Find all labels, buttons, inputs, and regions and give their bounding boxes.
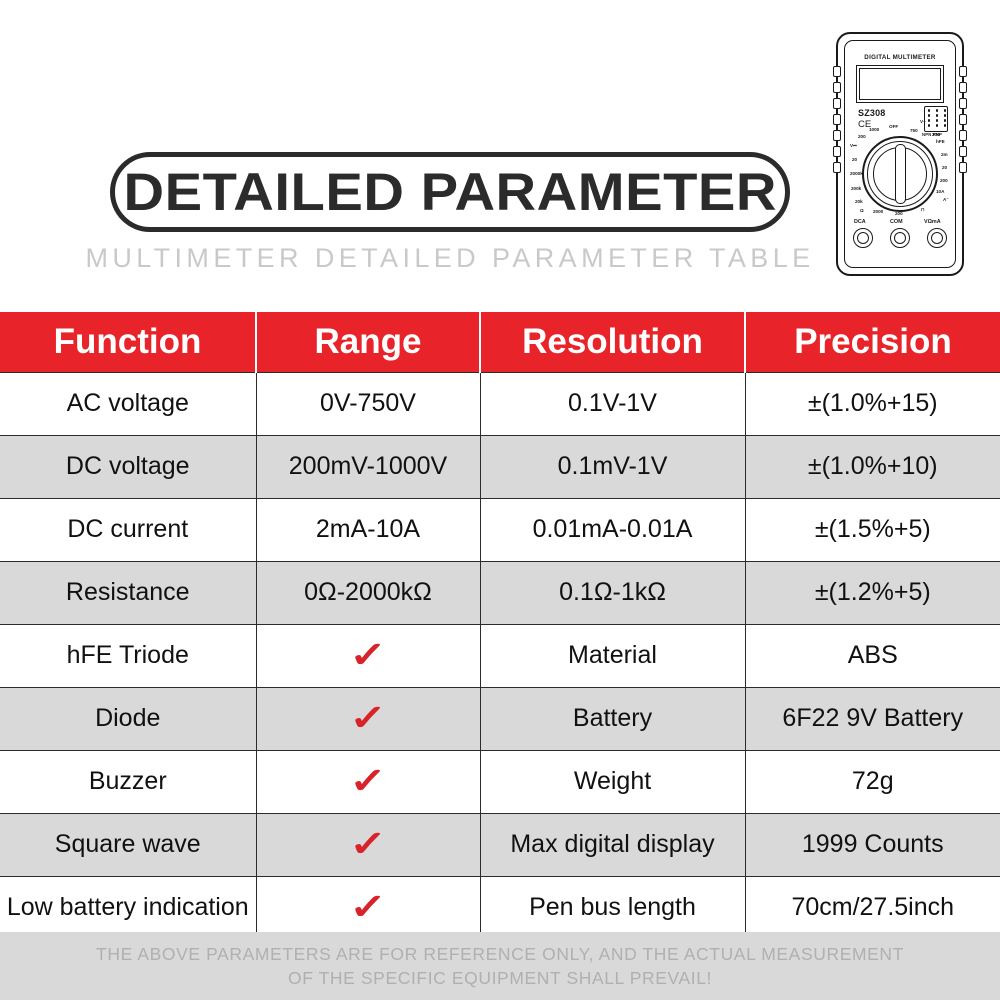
- side-ridge-icon: [833, 146, 841, 157]
- jack-label-vohm-ma: VΩmA: [924, 219, 941, 225]
- socket-pin-icon: [936, 124, 939, 127]
- cell-resolution: 0.1V-1V: [480, 372, 745, 435]
- cell-precision: ABS: [745, 624, 1000, 687]
- cell-range: ✓: [256, 750, 480, 813]
- dial-label-2m: 2m: [941, 153, 948, 158]
- cell-resolution: Weight: [480, 750, 745, 813]
- socket-pin-icon: [944, 119, 947, 122]
- cell-function: Diode: [0, 687, 256, 750]
- cell-range: ✓: [256, 624, 480, 687]
- side-ridge-icon: [833, 66, 841, 77]
- parameter-table: Function Range Resolution Precision AC v…: [0, 312, 1000, 940]
- dial-label-1000: 1000: [869, 128, 879, 133]
- jack-com[interactable]: [890, 228, 910, 248]
- check-icon: ✓: [349, 763, 387, 799]
- cell-range: 200mV-1000V: [256, 435, 480, 498]
- title-pill: DETAILED PARAMETER: [110, 152, 790, 232]
- jack-dca[interactable]: [853, 228, 873, 248]
- side-ridge-icon: [959, 146, 967, 157]
- page-subtitle: MULTIMETER DETAILED PARAMETER TABLE: [0, 243, 900, 274]
- dial-label-10a: 10A: [936, 190, 944, 195]
- table-row: Resistance0Ω-2000kΩ0.1Ω-1kΩ±(1.2%+5): [0, 561, 1000, 624]
- socket-pin-column: [943, 109, 947, 127]
- side-ridge-icon: [959, 130, 967, 141]
- dial-label-off: OFF: [889, 125, 898, 130]
- side-ridge-icon: [833, 82, 841, 93]
- table-row: Low battery indication✓Pen bus length70c…: [0, 876, 1000, 939]
- table-body: AC voltage0V-750V0.1V-1V±(1.0%+15)DC vol…: [0, 372, 1000, 939]
- dial-label-20-dcv: 20: [852, 158, 857, 163]
- socket-pin-icon: [928, 109, 931, 112]
- cell-resolution: 0.1Ω-1kΩ: [480, 561, 745, 624]
- table-row: DC voltage200mV-1000V0.1mV-1V±(1.0%+10): [0, 435, 1000, 498]
- dial-label-ohm: Ω: [860, 209, 864, 214]
- socket-pin-icon: [936, 109, 939, 112]
- jack-inner-icon: [857, 232, 869, 244]
- socket-pin-column: [935, 109, 939, 127]
- cell-resolution: Battery: [480, 687, 745, 750]
- dial-label-acv: V~: [920, 120, 926, 125]
- check-icon: ✓: [349, 826, 387, 862]
- transistor-test-socket: [924, 106, 948, 132]
- jack-inner-icon: [931, 232, 943, 244]
- cell-function: DC current: [0, 498, 256, 561]
- cell-function: Buzzer: [0, 750, 256, 813]
- side-ridge-icon: [833, 98, 841, 109]
- dial-label-2000k: 2000k: [850, 172, 863, 177]
- side-ridge-icon: [833, 162, 841, 173]
- side-ridge-icon: [959, 66, 967, 77]
- table-row: DC current2mA-10A0.01mA-0.01A±(1.5%+5): [0, 498, 1000, 561]
- cell-precision: 72g: [745, 750, 1000, 813]
- lcd-display: [856, 65, 944, 103]
- footer-disclaimer: THE ABOVE PARAMETERS ARE FOR REFERENCE O…: [0, 932, 1000, 1000]
- socket-pin-icon: [928, 119, 931, 122]
- dial-label-750: 750: [910, 129, 918, 134]
- socket-pin-icon: [944, 109, 947, 112]
- dial-label-hfe: hFE: [936, 140, 945, 145]
- column-header-function: Function: [0, 312, 256, 372]
- rotary-dial[interactable]: [862, 136, 938, 212]
- socket-pin-icon: [944, 114, 947, 117]
- cell-function: Low battery indication: [0, 876, 256, 939]
- jack-label-com: COM: [890, 219, 903, 225]
- dial-label-200k: 200k: [851, 187, 861, 192]
- table-header-row: Function Range Resolution Precision: [0, 312, 1000, 372]
- cell-function: hFE Triode: [0, 624, 256, 687]
- socket-pin-icon: [928, 114, 931, 117]
- table-row: Diode✓Battery6F22 9V Battery: [0, 687, 1000, 750]
- footer-line-2: OF THE SPECIFIC EQUIPMENT SHALL PREVAIL!: [288, 968, 712, 989]
- dial-label-200-r: 200: [932, 133, 940, 138]
- dial-label-200-ohm: 200: [895, 212, 903, 217]
- footer-line-1: THE ABOVE PARAMETERS ARE FOR REFERENCE O…: [96, 944, 904, 965]
- side-ridge-icon: [959, 98, 967, 109]
- side-ridge-icon: [833, 114, 841, 125]
- dial-label-200-acv: 200: [858, 135, 866, 140]
- table-row: Square wave✓Max digital display1999 Coun…: [0, 813, 1000, 876]
- cell-precision: 1999 Counts: [745, 813, 1000, 876]
- dial-label-20: 20: [942, 166, 947, 171]
- side-ridge-icon: [959, 82, 967, 93]
- cell-precision: 70cm/27.5inch: [745, 876, 1000, 939]
- socket-pin-icon: [936, 114, 939, 117]
- side-ridge-icon: [959, 114, 967, 125]
- dial-label-square-wave: ⊓: [921, 208, 925, 213]
- cell-precision: ±(1.5%+5): [745, 498, 1000, 561]
- dial-label-dcv: V⎓: [850, 144, 857, 149]
- cell-range: ✓: [256, 876, 480, 939]
- header-area: DETAILED PARAMETER MULTIMETER DETAILED P…: [0, 0, 1000, 312]
- lcd-inner-bezel: [859, 68, 941, 100]
- dial-pointer-icon: [895, 144, 906, 204]
- cell-precision: ±(1.0%+15): [745, 372, 1000, 435]
- socket-pin-icon: [928, 124, 931, 127]
- cell-resolution: 0.1mV-1V: [480, 435, 745, 498]
- cell-precision: 6F22 9V Battery: [745, 687, 1000, 750]
- dial-label-2000: 2000: [873, 210, 883, 215]
- side-ridge-icon: [959, 162, 967, 173]
- cell-resolution: 0.01mA-0.01A: [480, 498, 745, 561]
- cell-range: 2mA-10A: [256, 498, 480, 561]
- cell-range: 0Ω-2000kΩ: [256, 561, 480, 624]
- cell-function: Resistance: [0, 561, 256, 624]
- side-ridge-icon: [833, 130, 841, 141]
- table-row: hFE Triode✓MaterialABS: [0, 624, 1000, 687]
- column-header-range: Range: [256, 312, 480, 372]
- dial-label-20k: 20k: [855, 200, 863, 205]
- column-header-precision: Precision: [745, 312, 1000, 372]
- check-icon: ✓: [349, 889, 387, 925]
- device-model-label: SZ308: [858, 108, 886, 118]
- cell-precision: ±(1.0%+10): [745, 435, 1000, 498]
- jack-label-dca: DCA: [854, 219, 866, 225]
- jack-vohm-ma[interactable]: [927, 228, 947, 248]
- table-row: AC voltage0V-750V0.1V-1V±(1.0%+15): [0, 372, 1000, 435]
- cell-precision: ±(1.2%+5): [745, 561, 1000, 624]
- dial-label-200-a: 200: [940, 179, 948, 184]
- cell-function: Square wave: [0, 813, 256, 876]
- dial-label-amp: A⁻: [943, 198, 949, 203]
- cell-resolution: Material: [480, 624, 745, 687]
- device-brand-label: DIGITAL MULTIMETER: [836, 54, 964, 61]
- check-icon: ✓: [349, 700, 387, 736]
- socket-pin-column: [927, 109, 931, 127]
- socket-pin-icon: [936, 119, 939, 122]
- cell-resolution: Max digital display: [480, 813, 745, 876]
- column-header-resolution: Resolution: [480, 312, 745, 372]
- cell-resolution: Pen bus length: [480, 876, 745, 939]
- cell-range: ✓: [256, 813, 480, 876]
- cell-function: AC voltage: [0, 372, 256, 435]
- jack-inner-icon: [894, 232, 906, 244]
- check-icon: ✓: [349, 637, 387, 673]
- cell-range: ✓: [256, 687, 480, 750]
- socket-pin-icon: [944, 124, 947, 127]
- multimeter-illustration: DIGITAL MULTIMETER SZ308 CE: [836, 32, 964, 276]
- cell-range: 0V-750V: [256, 372, 480, 435]
- page-title: DETAILED PARAMETER: [123, 166, 777, 219]
- table-row: Buzzer✓Weight72g: [0, 750, 1000, 813]
- cell-function: DC voltage: [0, 435, 256, 498]
